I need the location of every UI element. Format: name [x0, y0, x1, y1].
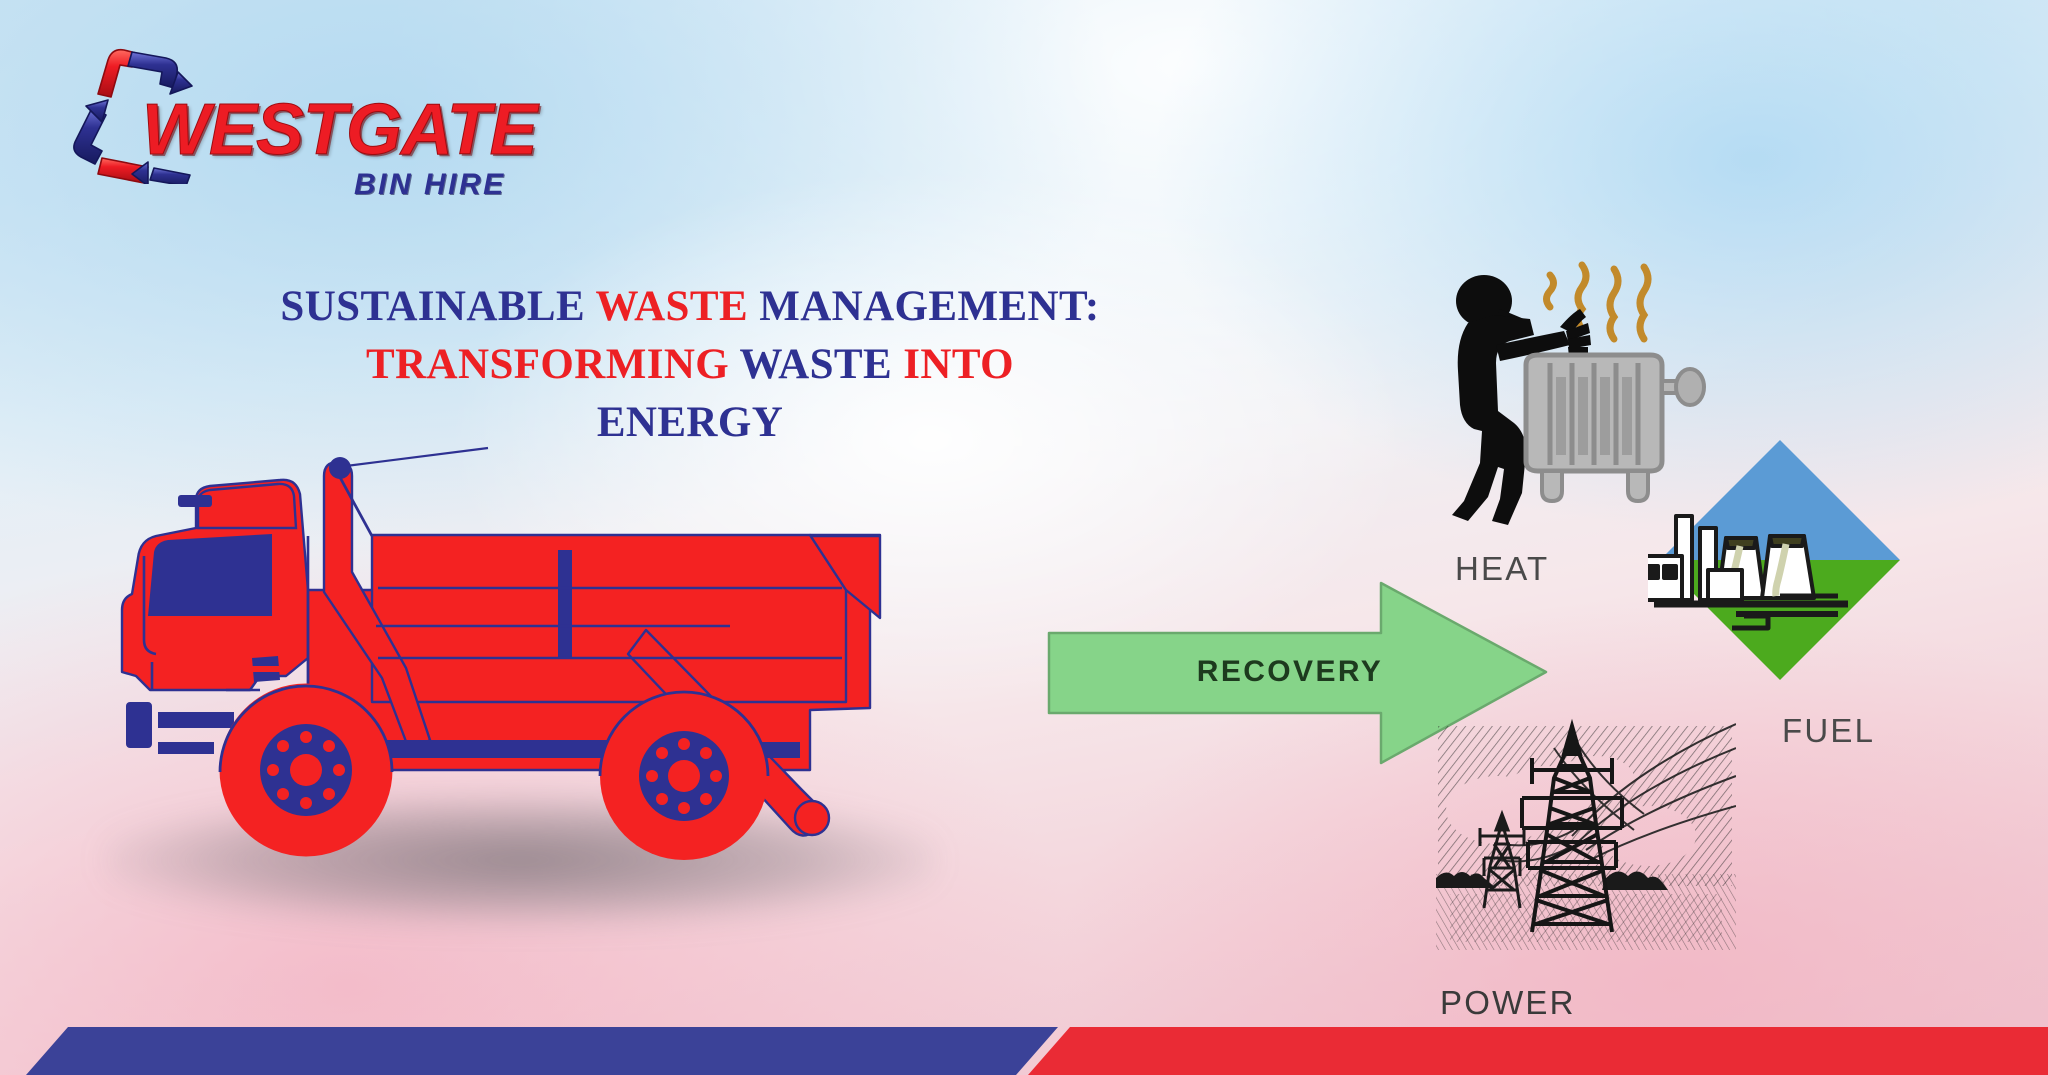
headline-word-sustainable: SUSTAINABLE [280, 283, 585, 330]
headline-word-energy: ENERGY [597, 399, 783, 446]
headline-word-waste-1: WASTE [595, 283, 748, 330]
headline-line-1: SUSTAINABLE WASTE MANAGEMENT: [275, 278, 1105, 336]
heat-label: HEAT [1455, 550, 1549, 588]
promo-banner: WESTGATE BIN HIRE SUSTAINABLE WASTE MANA… [0, 0, 2048, 1075]
electricity-pylon-icon [1436, 718, 1736, 983]
logo-wordmark: WESTGATE [142, 89, 537, 171]
headline-word-waste-2: WASTE [740, 341, 893, 388]
footer-stripe [0, 1000, 2048, 1075]
footer-stripe-right [1028, 1027, 2048, 1075]
headline-word-into: INTO [903, 341, 1014, 388]
logo-subtext: BIN HIRE [354, 168, 506, 202]
fuel-label: FUEL [1782, 712, 1875, 750]
headline-word-management: MANAGEMENT: [759, 283, 1099, 330]
footer-stripe-left [26, 1027, 1058, 1075]
company-logo[interactable]: WESTGATE BIN HIRE [62, 34, 482, 184]
recovery-label: RECOVERY [1160, 655, 1420, 689]
headline-word-transforming: TRANSFORMING [366, 341, 729, 388]
page-title: SUSTAINABLE WASTE MANAGEMENT: TRANSFORMI… [275, 278, 1105, 452]
power-plant-diamond-icon [1648, 428, 1913, 693]
headline-line-2: TRANSFORMING WASTE INTO ENERGY [275, 336, 1105, 452]
skip-bin-truck-illustration [110, 440, 960, 860]
